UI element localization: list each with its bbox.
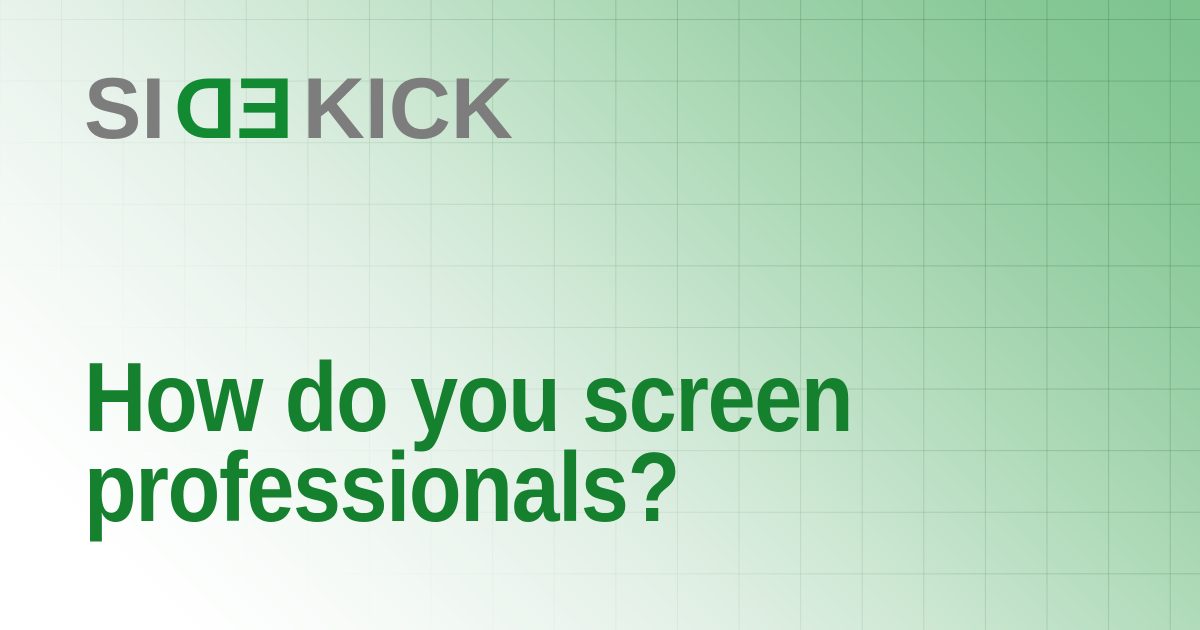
logo-letter-d-mirrored: D [174, 66, 236, 152]
logo-letter-k1: K [303, 66, 365, 152]
logo-letter-i1: I [141, 66, 165, 152]
logo-letter-e-mirrored: E [236, 66, 293, 152]
logo-letter-s: S [84, 66, 141, 152]
headline-title: How do you screen professionals? [84, 352, 964, 532]
logo-letter-c: C [389, 66, 451, 152]
social-card: S I D E K I C K How do you screen profes… [0, 0, 1200, 630]
logo-letter-k2: K [451, 66, 513, 152]
logo-letter-i2: I [365, 66, 389, 152]
sidekick-logo[interactable]: S I D E K I C K [84, 66, 513, 152]
